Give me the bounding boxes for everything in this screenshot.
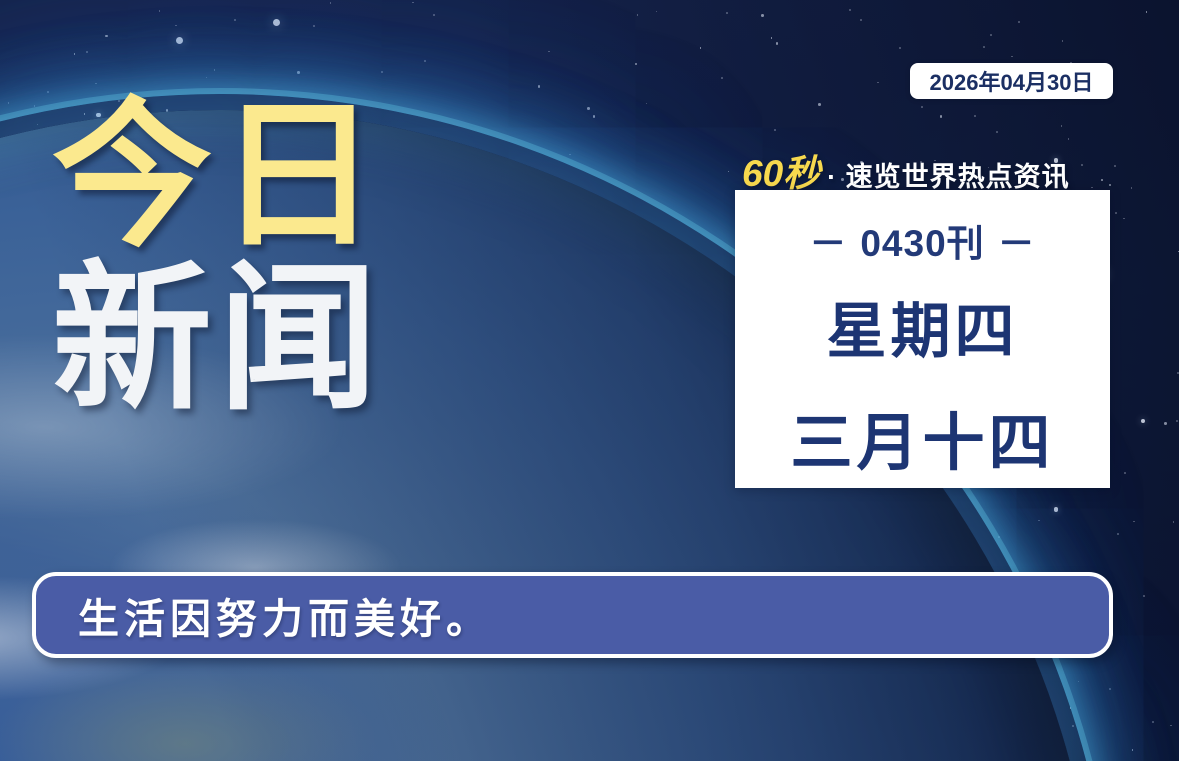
tagline: 60秒 · 速览世界热点资讯: [742, 143, 1070, 197]
issue-row: － 0430刊 －: [809, 213, 1035, 267]
title-line-today: 今日: [52, 98, 384, 255]
issue-info-card: － 0430刊 － 星期四 三月十四: [735, 190, 1110, 488]
lunar-date-label: 三月十四: [790, 392, 1054, 482]
date-badge: 2026年04月30日: [910, 63, 1113, 99]
date-badge-label: 2026年04月30日: [930, 65, 1094, 97]
quote-banner: 生活因努力而美好。: [32, 572, 1113, 658]
news-poster: 今日 新闻 2026年04月30日 60秒 · 速览世界热点资讯 － 0430刊…: [0, 0, 1179, 761]
issue-dash-right: －: [998, 213, 1036, 267]
issue-dash-left: －: [809, 213, 847, 267]
tagline-highlight: 60秒: [742, 143, 820, 197]
title-line-news: 新闻: [52, 261, 384, 418]
issue-number: 0430刊: [860, 213, 984, 267]
quote-text: 生活因努力而美好。: [78, 585, 492, 645]
tagline-rest: · 速览世界热点资讯: [827, 155, 1070, 194]
poster-title: 今日 新闻: [52, 98, 384, 418]
weekday-label: 星期四: [827, 283, 1019, 370]
